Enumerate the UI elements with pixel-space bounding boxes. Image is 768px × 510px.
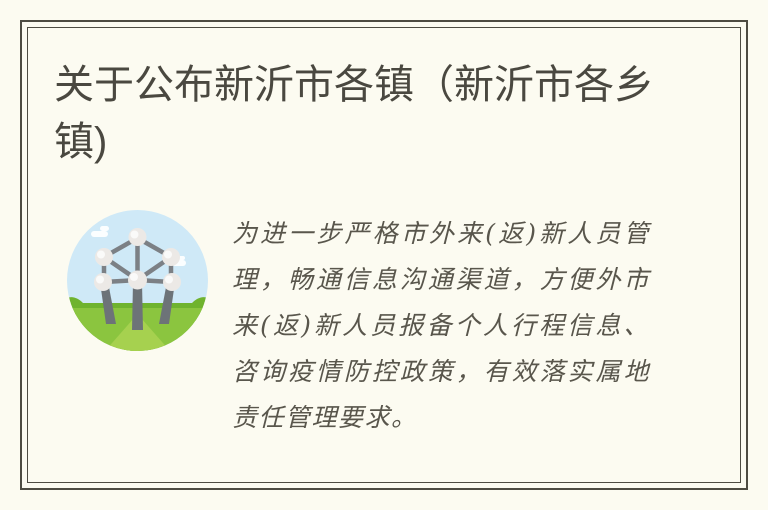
article-card: 关于公布新沂市各镇（新沂市各乡镇): [0, 0, 768, 510]
page-title: 关于公布新沂市各镇（新沂市各乡镇): [54, 57, 654, 171]
article-body-text: 为进一步严格市外来(返)新人员管理，畅通信息沟通渠道，方便外市来(返)新人员报备…: [232, 211, 650, 441]
article-body-row: 为进一步严格市外来(返)新人员管理，畅通信息沟通渠道，方便外市来(返)新人员报备…: [54, 205, 674, 455]
atomium-landmark-icon: [67, 210, 208, 351]
